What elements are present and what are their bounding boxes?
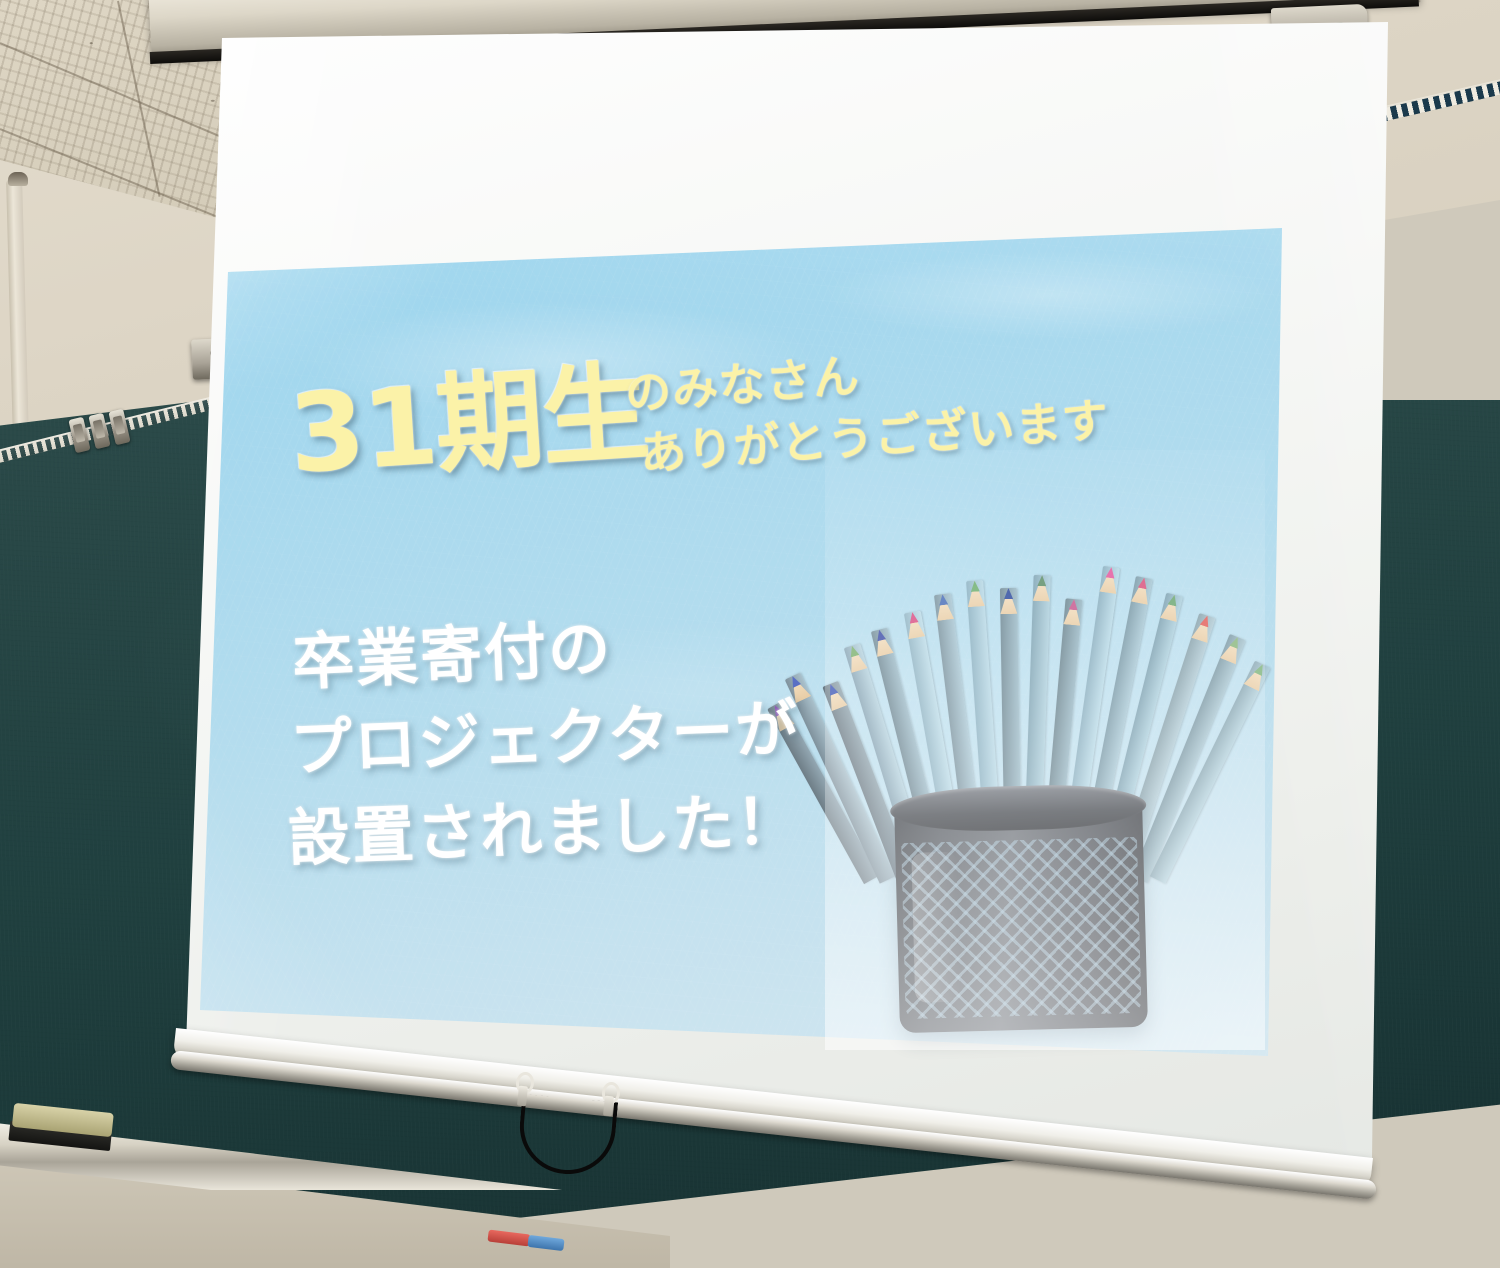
chalkboard-grain — [0, 400, 1500, 1268]
cup-highlight — [911, 852, 961, 1003]
clock-numeral: 11 — [630, 57, 649, 82]
mesh-pen-cup — [894, 797, 1148, 1033]
chalkboard — [0, 400, 1500, 1268]
clock-numeral: 4 — [716, 153, 727, 179]
clock-numeral: 1 — [697, 55, 707, 81]
clock-numeral: 12 — [660, 47, 680, 73]
chalk-smudge — [400, 540, 600, 630]
clock-numeral: 9 — [602, 117, 611, 141]
clock-brand-dot — [668, 106, 672, 110]
screen-bracket-left — [191, 336, 271, 379]
clock-numeral: 5 — [692, 176, 702, 202]
wall-clock: SEIKO 12 1 2 3 4 5 6 7 8 9 10 11 — [566, 22, 778, 234]
clock-pivot — [666, 122, 674, 130]
clock-numeral: 3 — [728, 116, 739, 142]
clock-brand: SEIKO — [655, 92, 686, 102]
clock-numeral: 2 — [720, 82, 731, 108]
pencil-cup-artwork — [845, 470, 1245, 1030]
pipe-cap — [8, 172, 28, 186]
os-logo-left: OS — [210, 348, 228, 361]
bracket-logo-label: OS — [1286, 23, 1345, 44]
cup-rim — [890, 783, 1147, 834]
classroom-photo: SEIKO 12 1 2 3 4 5 6 7 8 9 10 11 OS OS — [0, 0, 1500, 1268]
clock-numeral: 10 — [606, 84, 625, 109]
